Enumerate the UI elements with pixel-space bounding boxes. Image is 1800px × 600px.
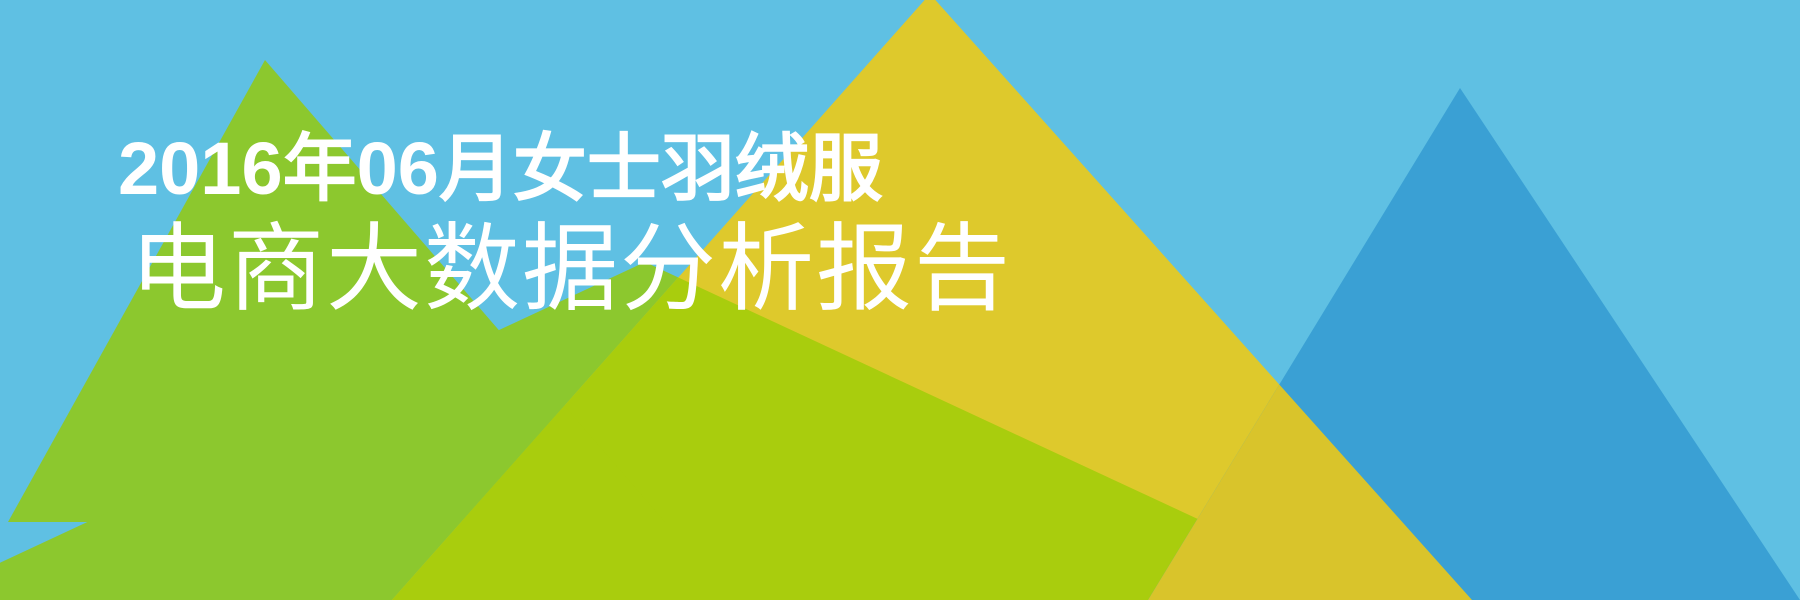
background-geometric-artwork bbox=[0, 0, 1800, 600]
report-cover-banner: 2016年06月女士羽绒服 电商大数据分析报告 bbox=[0, 0, 1800, 600]
